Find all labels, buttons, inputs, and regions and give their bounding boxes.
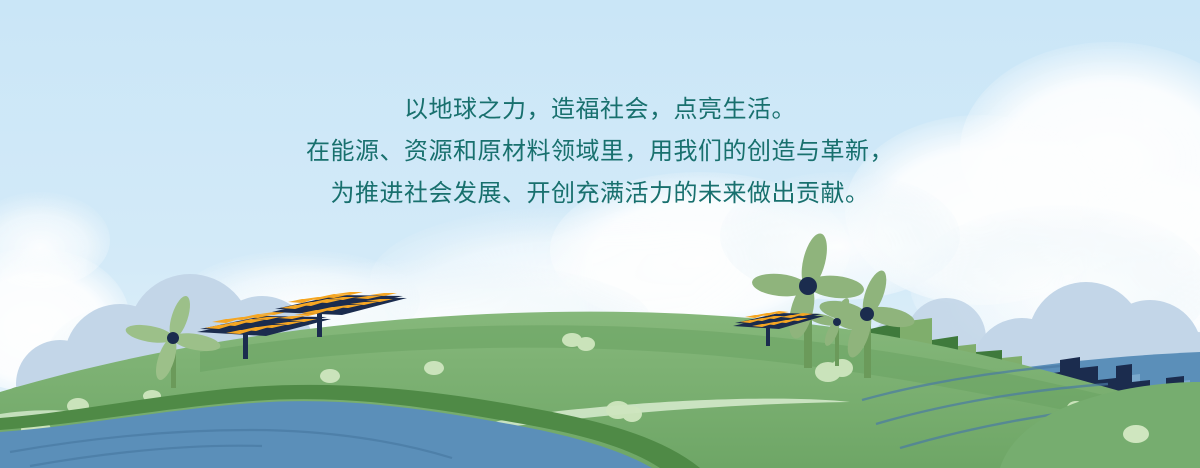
solar-stand-center [317, 311, 322, 337]
turbine-hub-tall [799, 277, 817, 295]
turbine-hub-far-left [167, 332, 179, 344]
solar-stand-left [243, 331, 248, 359]
turbine-hub-small [833, 318, 841, 326]
grass-spot-peninsula [1123, 425, 1149, 443]
turbine-hub-medium [860, 307, 874, 321]
hero-banner: 以地球之力，造福社会，点亮生活。 在能源、资源和原材料领域里，用我们的创造与革新… [0, 0, 1200, 468]
green-energy-landscape-illustration [0, 0, 1200, 468]
